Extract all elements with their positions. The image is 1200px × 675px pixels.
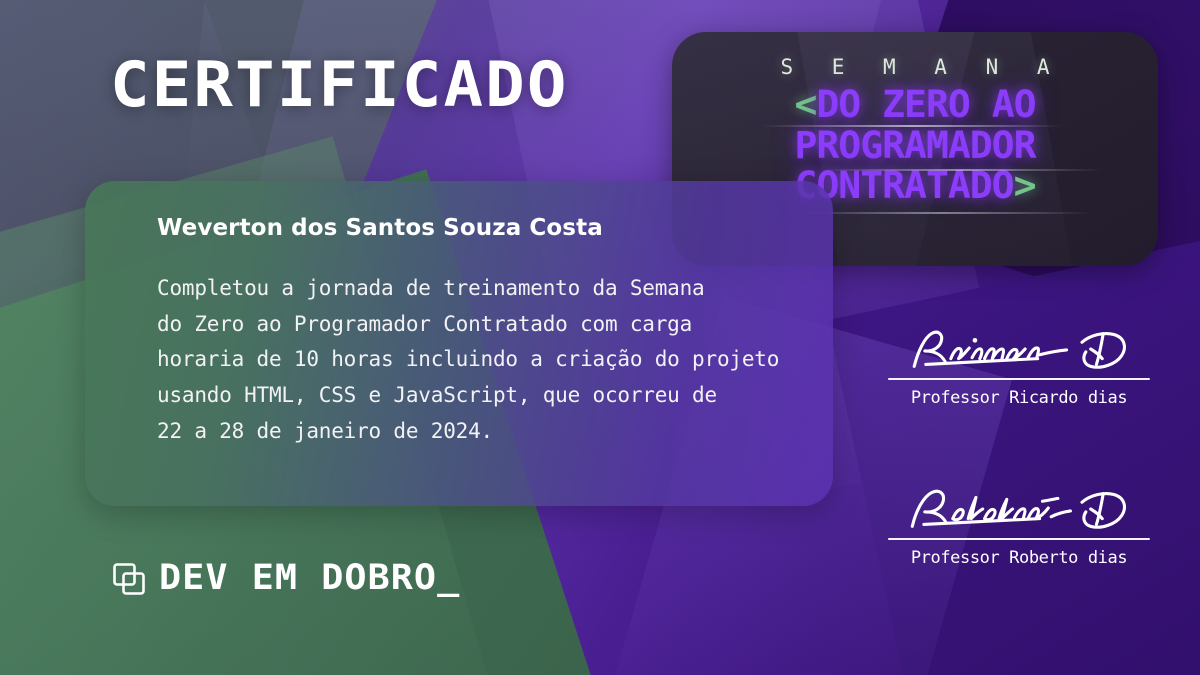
angle-bracket-close-icon: > [1014, 164, 1036, 207]
brand-name: DEV EM DOBRO_ [159, 561, 460, 596]
page-title: CERTIFICADO [110, 54, 569, 116]
badge-line-2-text: PROGRAMADOR [794, 124, 1035, 167]
badge-eyebrow: S E M A N A [672, 55, 1158, 79]
signature-rule [888, 378, 1150, 380]
signature-rule [888, 538, 1150, 540]
body-line: usando HTML, CSS e JavaScript, que ocorr… [157, 378, 787, 414]
body-line: do Zero ao Programador Contratado com ca… [157, 307, 787, 343]
certificate-content-card: Weverton dos Santos Souza Costa Completo… [85, 181, 833, 506]
body-line: 22 a 28 de janeiro de 2024. [157, 414, 787, 450]
certificate-canvas: CERTIFICADO S E M A N A <DO ZERO AO PROG… [0, 0, 1200, 675]
badge-line-1: <DO ZERO AO [794, 83, 1035, 126]
signature-ricardo-icon [893, 322, 1146, 376]
recipient-name: Weverton dos Santos Souza Costa [157, 215, 787, 241]
overlapping-squares-icon [112, 562, 146, 596]
body-line: Completou a jornada de treinamento da Se… [157, 271, 787, 307]
signature-name: Professor Ricardo dias [888, 388, 1150, 408]
signature-roberto-icon [893, 482, 1146, 536]
signature-block-ricardo: Professor Ricardo dias [888, 322, 1150, 408]
body-line: horaria de 10 horas incluindo a criação … [157, 342, 787, 378]
badge-line-2: PROGRAMADOR [794, 124, 1035, 167]
certificate-body-text: Completou a jornada de treinamento da Se… [157, 271, 787, 449]
signature-name: Professor Roberto dias [888, 548, 1150, 568]
angle-bracket-open-icon: < [794, 83, 816, 126]
brand-lockup: DEV EM DOBRO_ [112, 561, 446, 596]
badge-line-1-text: DO ZERO AO [816, 83, 1035, 126]
signature-block-roberto: Professor Roberto dias [888, 482, 1150, 568]
